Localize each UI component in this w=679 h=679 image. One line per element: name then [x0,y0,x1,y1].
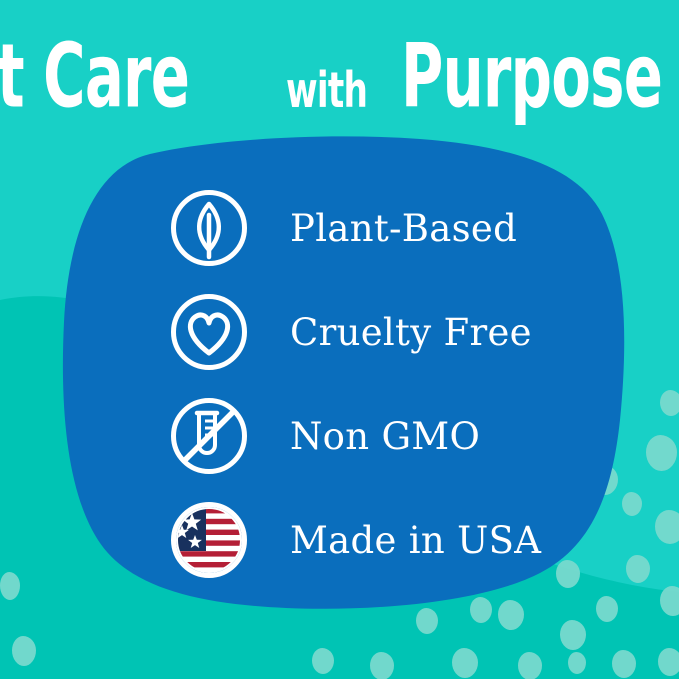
feature-list: Plant-Based Cruelty Free [168,176,598,592]
feature-label: Plant-Based [290,207,517,250]
feature-label: Cruelty Free [290,311,532,354]
usa-flag-icon [168,499,250,581]
page-title: Pet Care with Purpose ® [0,8,679,118]
feature-row-plant-based: Plant-Based [168,176,598,280]
headline-part2: with [286,68,367,115]
feature-row-made-in-usa: Made in USA [168,488,598,592]
leaf-icon [168,187,250,269]
feature-label: Made in USA [290,519,541,562]
feature-row-non-gmo: Non GMO [168,384,598,488]
feature-label: Non GMO [290,415,480,458]
promo-graphic: Pet Care with Purpose ® Plant-Based [0,0,679,679]
headline-part3: Purpose [401,34,662,118]
headline-part1: Pet Care [0,34,189,118]
no-gmo-icon [168,395,250,477]
feature-row-cruelty-free: Cruelty Free [168,280,598,384]
heart-icon [168,291,250,373]
